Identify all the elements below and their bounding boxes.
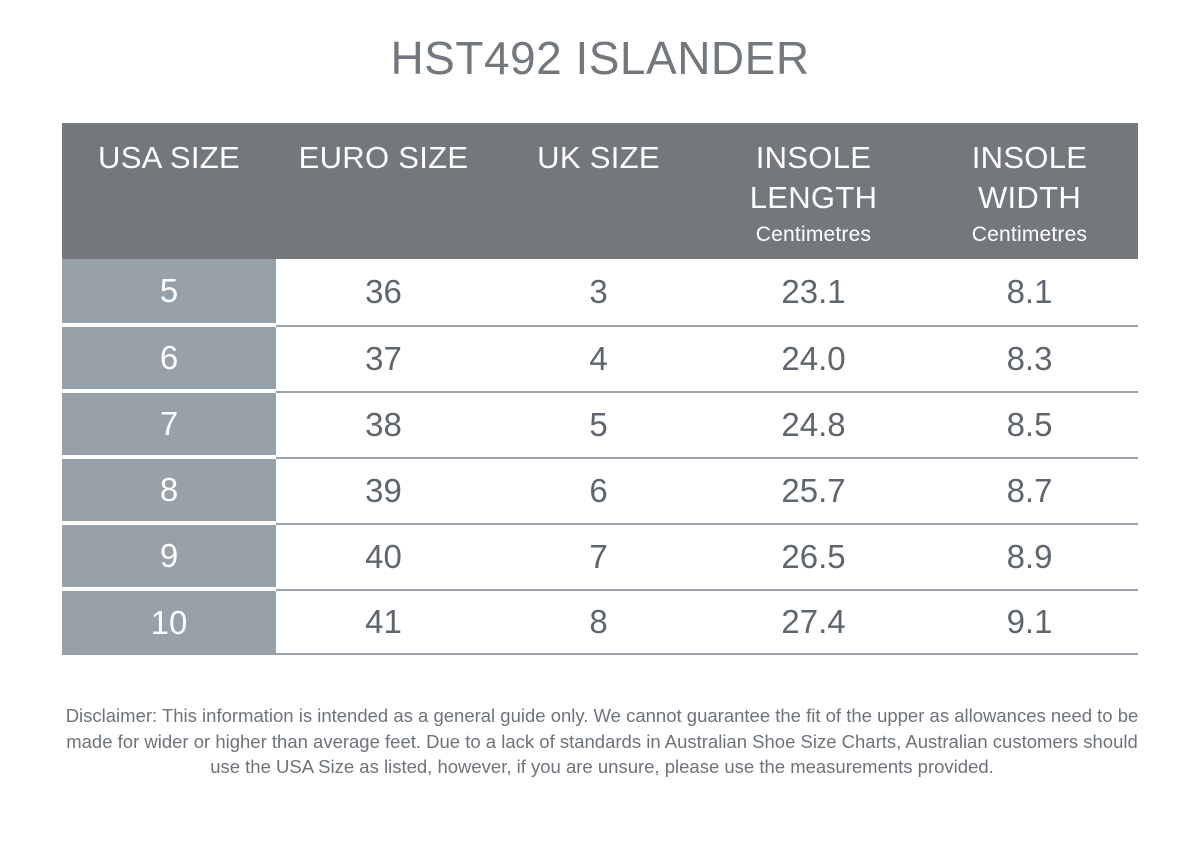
table-row: 839625.78.7 [62, 457, 1138, 523]
row-data-cells: 36323.18.1 [276, 259, 1138, 325]
column-header-usa-size: USA SIZE [62, 123, 276, 259]
row-data-cells: 37424.08.3 [276, 325, 1138, 391]
table-header-row: USA SIZE EURO SIZE UK SIZE INSOLE LENGTH… [62, 123, 1138, 259]
cell-usa-size: 9 [62, 525, 276, 587]
column-header-insole-width-unit: Centimetres [972, 220, 1087, 250]
table-row: 1041827.49.1 [62, 589, 1138, 655]
cell-usa-size: 5 [62, 259, 276, 323]
cell-width: 9.1 [921, 591, 1138, 653]
size-chart-table: USA SIZE EURO SIZE UK SIZE INSOLE LENGTH… [62, 123, 1138, 655]
column-header-euro-size: EURO SIZE [276, 123, 491, 259]
cell-euro: 36 [276, 259, 491, 325]
cell-uk: 8 [491, 591, 706, 653]
cell-euro: 41 [276, 591, 491, 653]
column-header-usa-size-label: USA SIZE [98, 138, 240, 178]
cell-uk: 5 [491, 393, 706, 457]
cell-uk: 4 [491, 327, 706, 391]
cell-euro: 38 [276, 393, 491, 457]
column-header-insole-length: INSOLE LENGTH Centimetres [706, 123, 921, 259]
table-row: 536323.18.1 [62, 259, 1138, 325]
cell-length: 25.7 [706, 459, 921, 523]
page-title: HST492 ISLANDER [0, 31, 1200, 85]
cell-length: 26.5 [706, 525, 921, 589]
cell-uk: 6 [491, 459, 706, 523]
table-body: 536323.18.1637424.08.3738524.88.5839625.… [62, 259, 1138, 655]
cell-euro: 39 [276, 459, 491, 523]
table-row: 940726.58.9 [62, 523, 1138, 589]
column-header-uk-size-label: UK SIZE [537, 138, 660, 178]
cell-euro: 40 [276, 525, 491, 589]
cell-width: 8.7 [921, 459, 1138, 523]
column-header-insole-length-label: INSOLE LENGTH [750, 138, 878, 218]
column-header-insole-length-unit: Centimetres [756, 220, 871, 250]
cell-length: 23.1 [706, 259, 921, 325]
column-header-uk-size: UK SIZE [491, 123, 706, 259]
disclaimer-text: Disclaimer: This information is intended… [60, 703, 1144, 780]
column-header-euro-size-label: EURO SIZE [299, 138, 469, 178]
row-data-cells: 40726.58.9 [276, 523, 1138, 589]
cell-uk: 3 [491, 259, 706, 325]
cell-usa-size: 6 [62, 327, 276, 389]
cell-width: 8.9 [921, 525, 1138, 589]
cell-euro: 37 [276, 327, 491, 391]
cell-usa-size: 10 [62, 591, 276, 655]
row-data-cells: 41827.49.1 [276, 589, 1138, 655]
row-data-cells: 39625.78.7 [276, 457, 1138, 523]
cell-width: 8.5 [921, 393, 1138, 457]
cell-width: 8.1 [921, 259, 1138, 325]
size-chart-page: HST492 ISLANDER USA SIZE EURO SIZE UK SI… [0, 0, 1200, 842]
column-header-insole-width: INSOLE WIDTH Centimetres [921, 123, 1138, 259]
cell-width: 8.3 [921, 327, 1138, 391]
cell-usa-size: 7 [62, 393, 276, 455]
cell-length: 24.0 [706, 327, 921, 391]
cell-length: 27.4 [706, 591, 921, 653]
cell-usa-size: 8 [62, 459, 276, 521]
table-row: 738524.88.5 [62, 391, 1138, 457]
cell-uk: 7 [491, 525, 706, 589]
cell-length: 24.8 [706, 393, 921, 457]
table-row: 637424.08.3 [62, 325, 1138, 391]
row-data-cells: 38524.88.5 [276, 391, 1138, 457]
column-header-insole-width-label: INSOLE WIDTH [972, 138, 1088, 218]
